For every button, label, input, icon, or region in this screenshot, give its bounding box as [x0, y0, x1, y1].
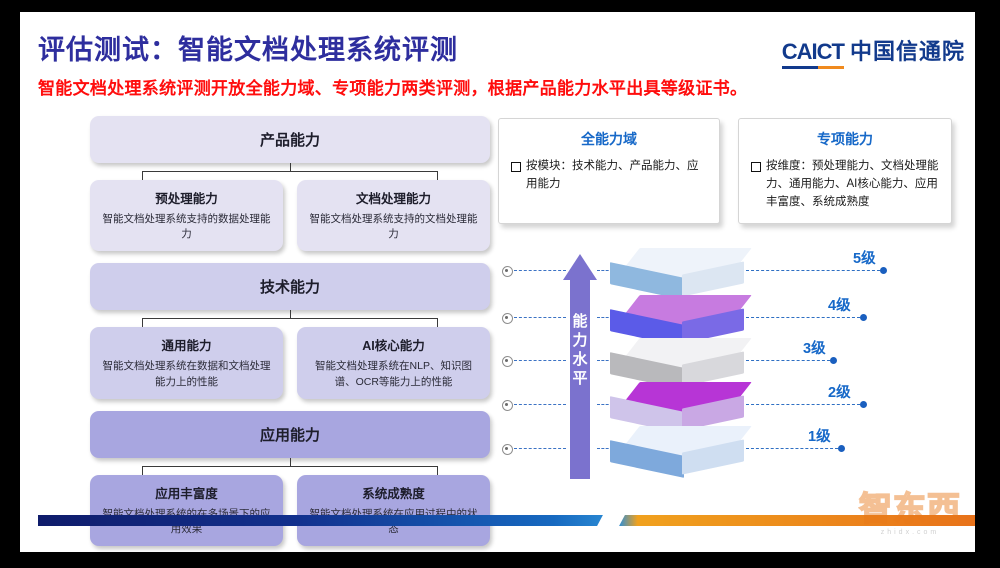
level-leader-left — [514, 317, 566, 318]
level-label: 5级 — [853, 247, 876, 268]
level-leader-left — [514, 448, 566, 449]
card-title: 全能力域 — [511, 129, 707, 149]
card-title: 专项能力 — [751, 129, 939, 149]
square-bullet-icon — [511, 162, 521, 172]
level-end-dot — [860, 401, 867, 408]
footer-accent-bar — [38, 515, 975, 526]
caict-logo: CAICT 中国信通院 — [782, 34, 965, 69]
axis-label: 能力水平 — [571, 312, 589, 388]
children-product: 预处理能力 智能文档处理系统支持的数据处理能力 文档处理能力 智能文档处理系统支… — [90, 180, 490, 251]
level-slab[interactable] — [610, 338, 750, 384]
child-title: 文档处理能力 — [306, 188, 481, 207]
card-bullet-text: 按模块：技术能力、产品能力、应用能力 — [526, 158, 707, 194]
tree-block-tech: 技术能力 通用能力 智能文档处理系统在数据和文档处理能力上的性能 AI核心能力 … — [90, 263, 490, 398]
level-label: 3级 — [803, 337, 826, 358]
level-tick-icon — [502, 266, 513, 277]
level-leader-left — [514, 270, 566, 271]
level-leader-left — [514, 404, 566, 405]
parent-node-product[interactable]: 产品能力 — [90, 116, 490, 163]
level-tick-icon — [502, 356, 513, 367]
level-slab[interactable] — [610, 295, 750, 341]
capability-level-stack: 能力水平 5级4级3级2级1级 — [498, 252, 968, 487]
child-title: AI核心能力 — [306, 335, 481, 354]
level-tick-icon — [502, 400, 513, 411]
child-node[interactable]: 通用能力 智能文档处理系统在数据和文档处理能力上的性能 — [90, 327, 283, 398]
child-desc: 智能文档处理系统支持的数据处理能力 — [99, 212, 274, 242]
card-special-capability[interactable]: 专项能力 按维度：预处理能力、文档处理能力、通用能力、AI核心能力、应用丰富度、… — [738, 118, 952, 224]
capability-axis-arrow: 能力水平 — [563, 254, 597, 479]
watermark: 智东西 zhidx.com — [851, 490, 969, 538]
capability-tree: 产品能力 预处理能力 智能文档处理系统支持的数据处理能力 文档处理能力 智能文档… — [90, 116, 490, 552]
page-subtitle: 智能文档处理系统评测开放全能力域、专项能力两类评测，根据产品能力水平出具等级证书… — [38, 74, 747, 99]
child-node[interactable]: 预处理能力 智能文档处理系统支持的数据处理能力 — [90, 180, 283, 251]
level-label: 1级 — [808, 425, 831, 446]
child-title: 通用能力 — [99, 335, 274, 354]
connector-product — [90, 163, 490, 180]
tree-block-product: 产品能力 预处理能力 智能文档处理系统支持的数据处理能力 文档处理能力 智能文档… — [90, 116, 490, 251]
child-desc: 智能文档处理系统支持的文档处理能力 — [306, 212, 481, 242]
connector-tech — [90, 310, 490, 327]
page-title: 评估测试：智能文档处理系统评测 — [38, 28, 458, 67]
child-title: 预处理能力 — [99, 188, 274, 207]
parent-node-app[interactable]: 应用能力 — [90, 411, 490, 458]
child-desc: 智能文档处理系统在数据和文档处理能力上的性能 — [99, 359, 274, 389]
watermark-subtext: zhidx.com — [851, 528, 969, 537]
level-leader-left — [514, 360, 566, 361]
child-desc: 智能文档处理系统在NLP、知识图谱、OCR等能力上的性能 — [306, 359, 481, 389]
level-leader-right — [746, 360, 830, 361]
level-label: 4级 — [828, 294, 851, 315]
card-bullet-text: 按维度：预处理能力、文档处理能力、通用能力、AI核心能力、应用丰富度、系统成熟度 — [766, 158, 939, 211]
level-leader-right — [746, 270, 880, 271]
level-leader-right — [746, 404, 860, 405]
level-slab[interactable] — [610, 248, 750, 294]
connector-app — [90, 458, 490, 475]
child-node[interactable]: AI核心能力 智能文档处理系统在NLP、知识图谱、OCR等能力上的性能 — [297, 327, 490, 398]
level-end-dot — [860, 314, 867, 321]
square-bullet-icon — [751, 162, 761, 172]
child-title: 系统成熟度 — [306, 483, 481, 502]
level-slab[interactable] — [610, 382, 750, 428]
level-end-dot — [880, 267, 887, 274]
child-title: 应用丰富度 — [99, 483, 274, 502]
level-tick-icon — [502, 444, 513, 455]
child-node[interactable]: 应用丰富度 智能文档处理系统的在多场景下的应用效果 — [90, 475, 283, 546]
level-leader-right — [746, 317, 860, 318]
level-end-dot — [830, 357, 837, 364]
logo-wordmark-cn: 中国信通院 — [850, 34, 965, 66]
children-tech: 通用能力 智能文档处理系统在数据和文档处理能力上的性能 AI核心能力 智能文档处… — [90, 327, 490, 398]
level-leader-right — [746, 448, 838, 449]
level-slab[interactable] — [610, 426, 750, 472]
child-node[interactable]: 系统成熟度 智能文档处理系统在应用过程中的状态 — [297, 475, 490, 546]
level-tick-icon — [502, 313, 513, 324]
level-end-dot — [838, 445, 845, 452]
slide-canvas: 评估测试：智能文档处理系统评测 智能文档处理系统评测开放全能力域、专项能力两类评… — [20, 12, 975, 552]
watermark-text: 智东西 — [859, 490, 961, 527]
logo-wordmark-en: CAICT — [782, 39, 844, 69]
parent-node-tech[interactable]: 技术能力 — [90, 263, 490, 310]
child-node[interactable]: 文档处理能力 智能文档处理系统支持的文档处理能力 — [297, 180, 490, 251]
card-bullet: 按维度：预处理能力、文档处理能力、通用能力、AI核心能力、应用丰富度、系统成熟度 — [751, 158, 939, 211]
level-label: 2级 — [828, 381, 851, 402]
assessment-type-cards: 全能力域 按模块：技术能力、产品能力、应用能力 专项能力 按维度：预处理能力、文… — [498, 118, 952, 224]
card-bullet: 按模块：技术能力、产品能力、应用能力 — [511, 158, 707, 194]
card-full-capability[interactable]: 全能力域 按模块：技术能力、产品能力、应用能力 — [498, 118, 720, 224]
children-app: 应用丰富度 智能文档处理系统的在多场景下的应用效果 系统成熟度 智能文档处理系统… — [90, 475, 490, 546]
